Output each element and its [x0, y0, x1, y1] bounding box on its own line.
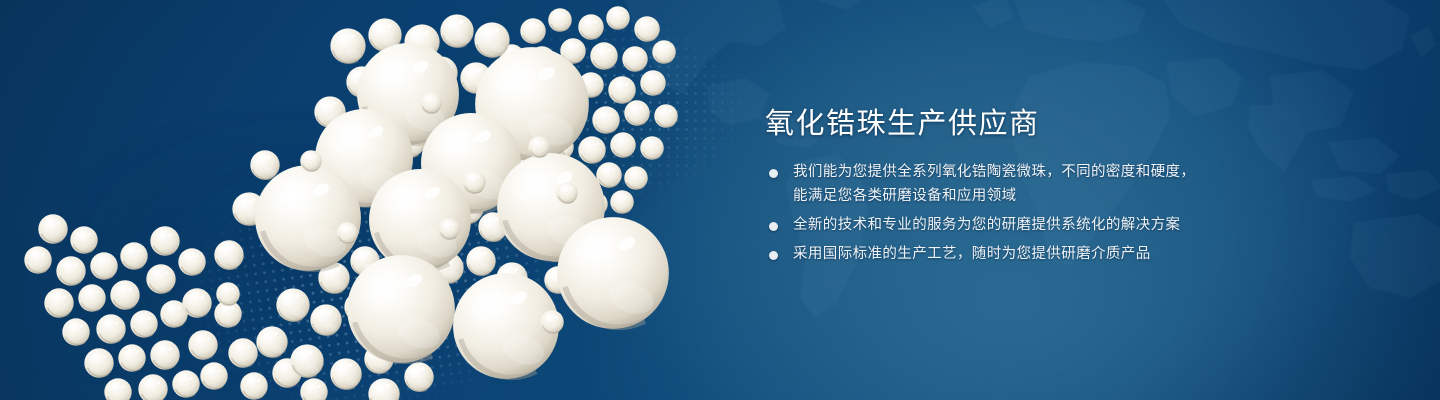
feature-list-item: 全新的技术和专业的服务为您的研磨提供系统化的解决方案	[765, 213, 1385, 237]
banner-feature-list: 我们能为您提供全系列氧化锆陶瓷微珠，不同的密度和硬度， 能满足您各类研磨设备和应…	[765, 160, 1385, 266]
bullet-dot-icon	[769, 169, 778, 178]
feature-list-item: 采用国际标准的生产工艺，随时为您提供研磨介质产品	[765, 242, 1385, 266]
hero-banner: 氧化锆珠生产供应商 我们能为您提供全系列氧化锆陶瓷微珠，不同的密度和硬度， 能满…	[0, 0, 1440, 400]
feature-text-line-1: 全新的技术和专业的服务为您的研磨提供系统化的解决方案	[793, 213, 1385, 237]
banner-headline: 氧化锆珠生产供应商	[765, 104, 1385, 144]
feature-text-line-1: 采用国际标准的生产工艺，随时为您提供研磨介质产品	[793, 242, 1385, 266]
feature-text-line-2: 能满足您各类研磨设备和应用领域	[793, 184, 1385, 208]
bullet-dot-icon	[769, 251, 778, 260]
zirconia-beads-photo	[0, 0, 790, 400]
bullet-dot-icon	[769, 222, 778, 231]
banner-copy: 氧化锆珠生产供应商 我们能为您提供全系列氧化锆陶瓷微珠，不同的密度和硬度， 能满…	[765, 104, 1385, 266]
feature-list-item: 我们能为您提供全系列氧化锆陶瓷微珠，不同的密度和硬度， 能满足您各类研磨设备和应…	[765, 160, 1385, 208]
feature-text-line-1: 我们能为您提供全系列氧化锆陶瓷微珠，不同的密度和硬度，	[793, 160, 1385, 184]
